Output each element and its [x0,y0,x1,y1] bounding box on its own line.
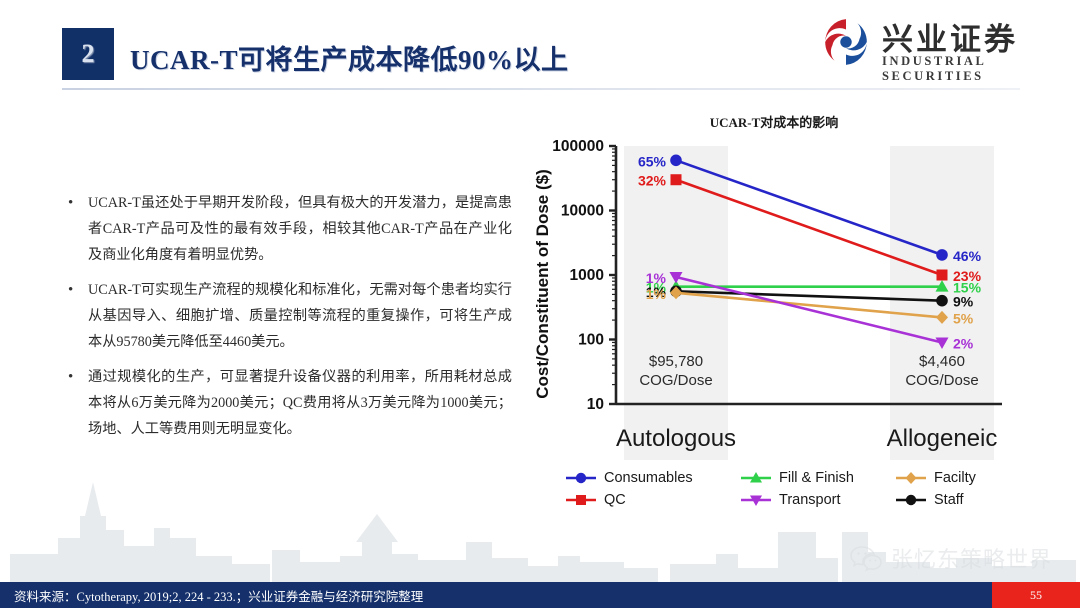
data-point [936,249,948,261]
y-tick-label: 100000 [552,138,604,155]
page-title: UCAR-T可将生产成本降低90%以上 [130,38,569,77]
data-point [670,155,682,167]
x-category-label: Autologous [616,425,736,452]
legend-label: Fill & Finish [773,470,854,486]
legend-marker-icon [564,470,598,486]
legend-label: QC [598,492,626,508]
legend-item[interactable]: QC [564,492,739,508]
legend-label: Staff [928,492,964,508]
legend-label: Facilty [928,470,976,486]
bullet-marker: • [62,364,88,442]
list-item: • 通过规模化的生产，可显著提升设备仪器的利用率，所用耗材总成本将从6万美元降为… [62,364,512,442]
y-tick-label: 1000 [570,267,604,284]
bullet-list: • UCAR-T虽还处于早期开发阶段，但具有极大的开发潜力，是提高患者CAR-T… [62,190,512,451]
legend-item[interactable]: Fill & Finish [739,470,894,486]
logo-name-cn: 兴业证券 [882,14,1018,59]
company-logo: 兴业证券 INDUSTRIAL SECURITIES [820,14,1050,76]
legend-item[interactable]: Consumables [564,470,739,486]
watermark-text: 张忆东策略世界 [883,542,1052,574]
cost-annotation-unit: COG/Dose [905,372,978,389]
chart-container: UCAR-T对成本的影响 1010010001000010000065%46%3… [524,112,1024,532]
data-point [936,295,948,307]
cost-annotation-value: $95,780 [649,353,703,370]
legend-marker-icon [739,492,773,508]
logo-name-en: INDUSTRIAL SECURITIES [882,54,1050,84]
legend-item[interactable]: Facilty [894,470,1034,486]
legend-label: Transport [773,492,841,508]
series-label-left: 1% [646,270,667,286]
bullet-text: UCAR-T可实现生产流程的规模化和标准化，无需对每个患者均实行从基因导入、细胞… [88,277,512,355]
cost-annotation-value: $4,460 [919,353,965,370]
legend-marker-icon [564,492,598,508]
series-label-right: 9% [953,294,974,310]
slide-header: 2 UCAR-T可将生产成本降低90%以上 兴业证券 INDUSTRIAL SE… [0,0,1080,100]
section-number-badge: 2 [62,28,114,80]
legend-marker-icon [894,470,928,486]
source-note: 资料来源：Cytotherapy, 2019;2, 224 - 233.；兴业证… [14,586,423,605]
footer-bar: 资料来源：Cytotherapy, 2019;2, 224 - 233.；兴业证… [0,582,1080,608]
series-label-right: 5% [953,310,974,326]
legend-label: Consumables [598,470,693,486]
series-label-right: 46% [953,248,982,264]
series-label-left: 1% [646,286,667,302]
chart-plot-area: 1010010001000010000065%46%32%23%1%15%1%9… [524,134,1024,464]
series-label-left: 65% [638,153,667,169]
data-point [671,174,682,185]
bullet-marker: • [62,277,88,355]
y-tick-label: 10 [587,396,604,413]
chart-legend: ConsumablesFill & FinishFaciltyQCTranspo… [524,464,1024,526]
legend-item[interactable]: Transport [739,492,894,508]
cost-annotation-unit: COG/Dose [639,372,712,389]
list-item: • UCAR-T虽还处于早期开发阶段，但具有极大的开发潜力，是提高患者CAR-T… [62,190,512,268]
legend-marker-icon [894,492,928,508]
y-tick-label: 10000 [561,203,604,220]
bullet-text: UCAR-T虽还处于早期开发阶段，但具有极大的开发潜力，是提高患者CAR-T产品… [88,190,512,268]
y-tick-label: 100 [578,332,604,349]
chart-title: UCAR-T对成本的影响 [524,112,1024,131]
wechat-icon [849,544,883,572]
series-label-left: 32% [638,173,667,189]
legend-marker-icon [739,470,773,486]
legend-item[interactable]: Staff [894,492,1034,508]
list-item: • UCAR-T可实现生产流程的规模化和标准化，无需对每个患者均实行从基因导入、… [62,277,512,355]
series-label-right: 2% [953,335,974,351]
page-number: 55 [992,582,1080,608]
chart-svg: 1010010001000010000065%46%32%23%1%15%1%9… [524,134,1024,464]
data-point [937,270,948,281]
bullet-marker: • [62,190,88,268]
x-category-label: Allogeneic [887,425,998,452]
title-divider [62,88,1020,90]
industrial-securities-mark-icon [820,16,872,68]
y-axis-title: Cost/Constituent of Dose ($) [533,169,552,399]
bullet-text: 通过规模化的生产，可显著提升设备仪器的利用率，所用耗材总成本将从6万美元降为20… [88,364,512,442]
watermark: 张忆东策略世界 [849,542,1052,574]
